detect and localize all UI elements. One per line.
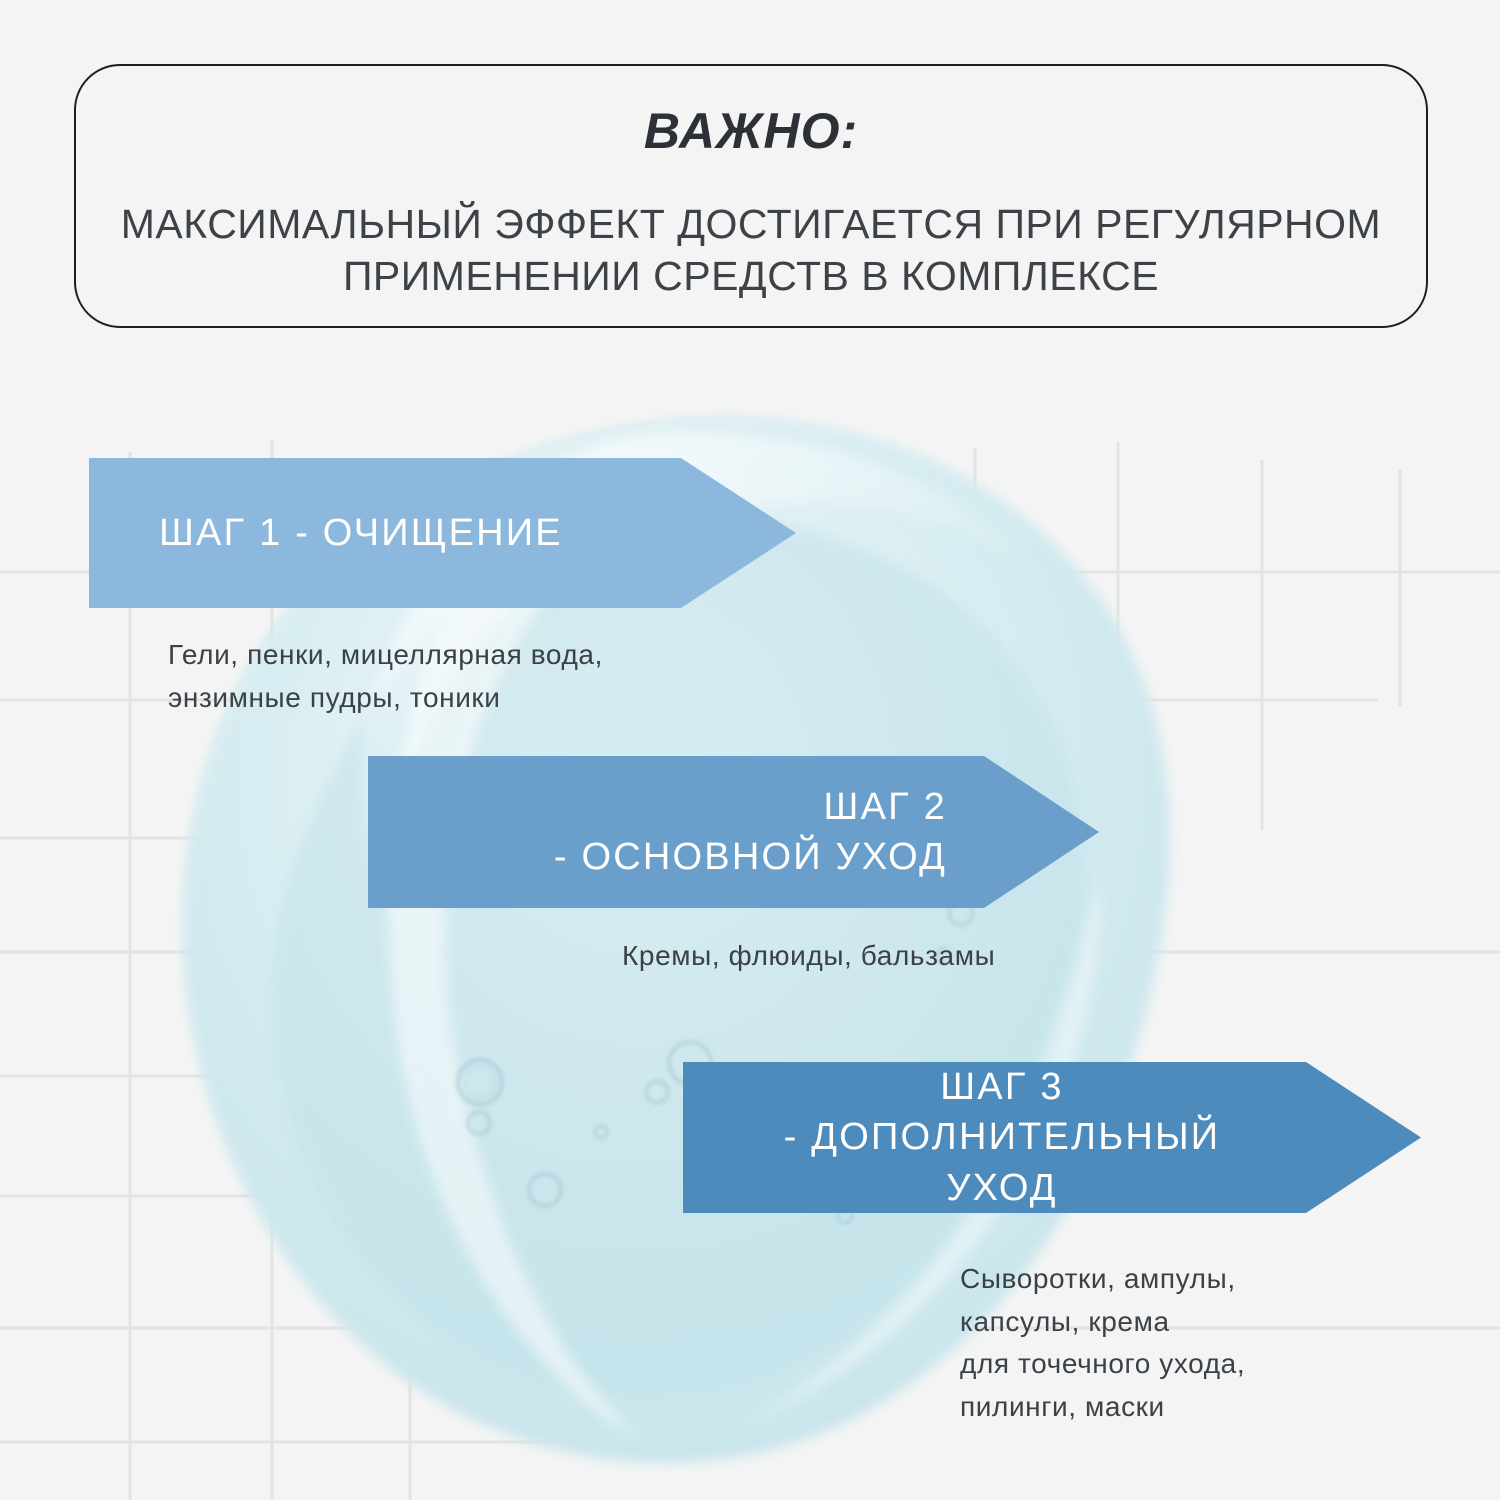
step-3-arrow: ШАГ 3 - ДОПОЛНИТЕЛЬНЫЙ УХОД bbox=[683, 1062, 1421, 1213]
step-1-arrow: ШАГ 1 - ОЧИЩЕНИЕ bbox=[89, 458, 796, 608]
step-1-caption: Гели, пенки, мицеллярная вода, энзимные … bbox=[168, 634, 603, 719]
callout-title: ВАЖНО: bbox=[644, 106, 858, 156]
step-2-caption: Кремы, флюиды, бальзамы bbox=[622, 935, 995, 978]
step-3-label: ШАГ 3 - ДОПОЛНИТЕЛЬНЫЙ УХОД bbox=[683, 1062, 1421, 1212]
callout-subtitle: МАКСИМАЛЬНЫЙ ЭФФЕКТ ДОСТИГАЕТСЯ ПРИ РЕГУ… bbox=[106, 198, 1396, 303]
infographic-canvas: ВАЖНО: МАКСИМАЛЬНЫЙ ЭФФЕКТ ДОСТИГАЕТСЯ П… bbox=[0, 0, 1500, 1500]
step-2-arrow: ШАГ 2 - ОСНОВНОЙ УХОД bbox=[368, 756, 1099, 908]
important-callout-box: ВАЖНО: МАКСИМАЛЬНЫЙ ЭФФЕКТ ДОСТИГАЕТСЯ П… bbox=[74, 64, 1428, 328]
step-1-label: ШАГ 1 - ОЧИЩЕНИЕ bbox=[89, 508, 796, 558]
step-2-label: ШАГ 2 - ОСНОВНОЙ УХОД bbox=[368, 782, 1099, 882]
step-3-caption: Сыворотки, ампулы, капсулы, крема для то… bbox=[960, 1258, 1245, 1428]
